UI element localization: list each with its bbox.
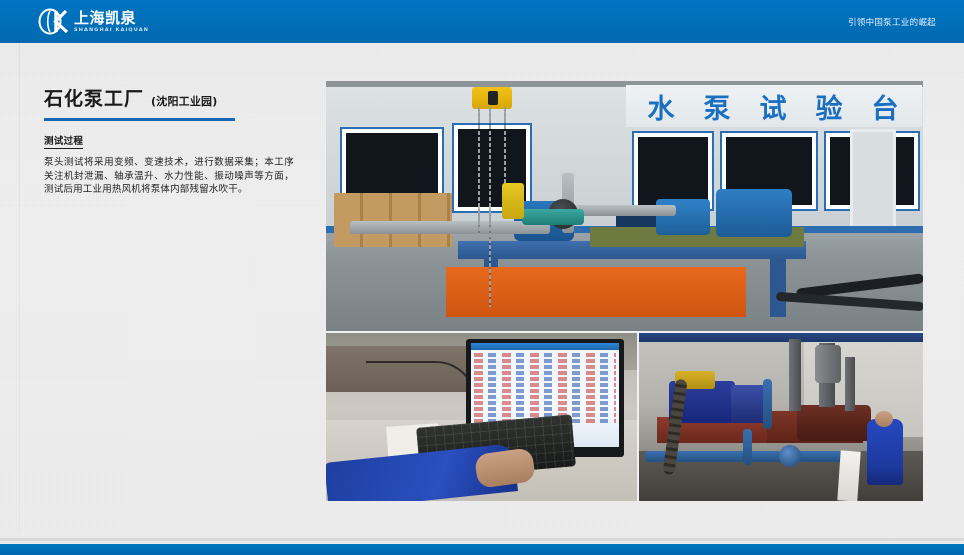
photo-worker-head xyxy=(875,411,893,427)
photo-collage: 水泵试验台 xyxy=(326,81,923,501)
photo-window xyxy=(634,133,712,209)
photo-vertical-column xyxy=(845,357,855,411)
page-title: 石化泵工厂 (沈阳工业园) xyxy=(44,84,302,111)
pump-test-rig-photo xyxy=(639,333,923,501)
operator-data-acquisition-photo xyxy=(326,333,637,501)
photo-blue-motor xyxy=(716,189,792,237)
photo-worker-blue-uniform xyxy=(867,419,903,485)
photo-lifting-chain xyxy=(478,107,480,235)
photo-cardboard-boxes xyxy=(334,193,452,247)
photo-pipe-flange xyxy=(779,445,801,467)
kaiquan-circle-k-logo-icon xyxy=(38,8,68,35)
section-heading: 测试过程 xyxy=(44,133,83,149)
photo-blue-pipe xyxy=(743,429,752,465)
page-title-main: 石化泵工厂 xyxy=(44,84,144,111)
footer-separator xyxy=(0,538,964,541)
photo-blue-pipe xyxy=(763,379,772,429)
photo-hoist-block xyxy=(488,91,498,105)
photo-teal-fitting xyxy=(522,209,584,225)
wall-sign-text: 水泵试验台 xyxy=(626,85,922,127)
photo-screen-data-rows xyxy=(474,353,616,425)
body-paragraph: 泵头测试将采用变频、变速技术，进行数据采集；本工序关注机封泄漏、轴承温升、水力性… xyxy=(44,156,294,197)
page-footer xyxy=(0,544,964,555)
panel-edge-divider xyxy=(19,43,20,533)
text-column: 石化泵工厂 (沈阳工业园) 测试过程 泵头测试将采用变频、变速技术，进行数据采集… xyxy=(44,84,302,197)
pump-test-bench-hall-photo: 水泵试验台 xyxy=(326,81,923,331)
photo-platform-leg xyxy=(770,259,786,317)
header-tagline: 引领中国泵工业的崛起 xyxy=(848,0,936,43)
photo-gearbox xyxy=(731,385,765,423)
photo-lifting-chain xyxy=(489,107,491,307)
photo-yellow-lifting-jig xyxy=(502,183,524,219)
brand-logo[interactable]: 上海凯泉 SHANGHAI KAIQUAN xyxy=(38,7,149,36)
brand-name-cn: 上海凯泉 xyxy=(74,11,149,26)
page-header: 上海凯泉 SHANGHAI KAIQUAN 引领中国泵工业的崛起 xyxy=(0,0,964,43)
photo-orange-base-frame xyxy=(446,267,746,317)
photo-pipe-horizontal xyxy=(350,221,550,234)
photo-white-pipe xyxy=(837,450,860,501)
photo-vessel xyxy=(815,345,841,383)
photo-vertical-column xyxy=(789,339,801,411)
brand-logo-text: 上海凯泉 SHANGHAI KAIQUAN xyxy=(74,11,149,33)
photo-process-pump xyxy=(797,405,871,441)
title-underline-rule xyxy=(44,118,235,121)
brand-name-en: SHANGHAI KAIQUAN xyxy=(74,28,149,33)
photo-screen-titlebar xyxy=(471,343,619,350)
photo-blue-ceiling-beam xyxy=(639,333,923,342)
page-title-sub: (沈阳工业园) xyxy=(151,93,217,109)
slide-canvas: 上海凯泉 SHANGHAI KAIQUAN 引领中国泵工业的崛起 石化泵工厂 (… xyxy=(0,0,964,555)
